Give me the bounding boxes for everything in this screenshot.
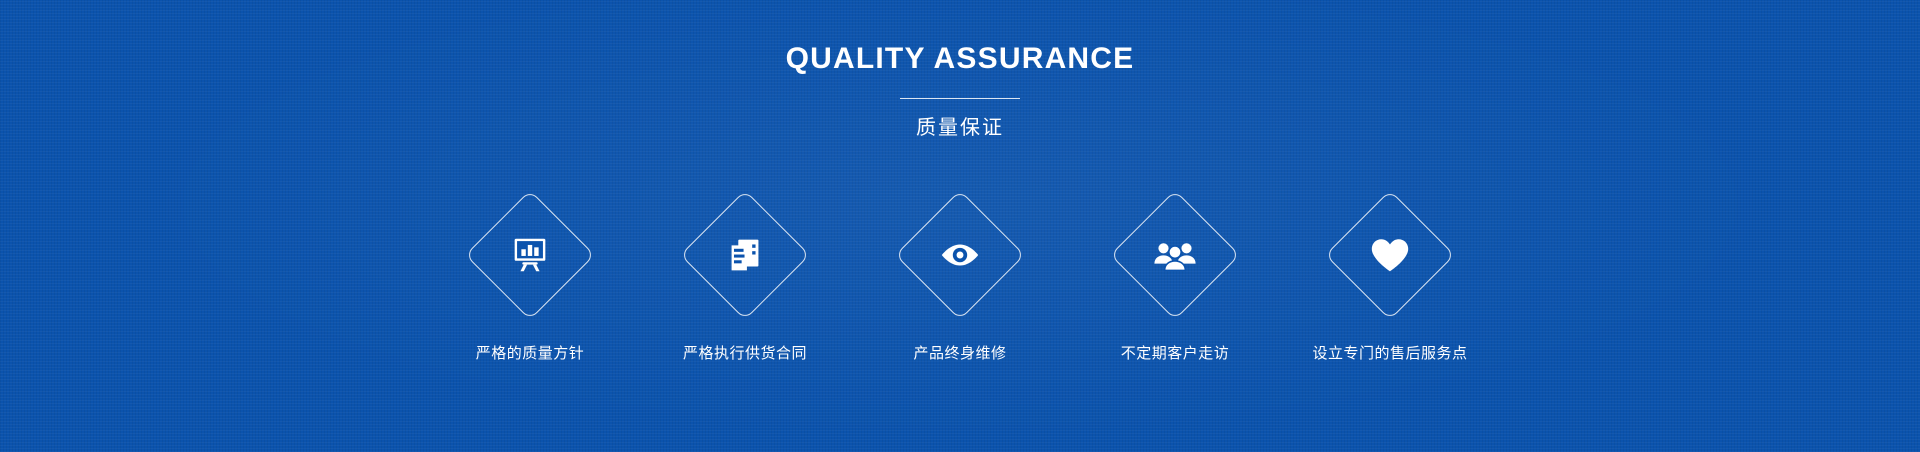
title-divider (900, 98, 1020, 99)
banner-heading: QUALITY ASSURANCE 质量保证 (0, 42, 1920, 140)
diamond-frame-2 (680, 190, 810, 320)
diamond-frame-4 (1110, 190, 1240, 320)
feature-item-customer-visits[interactable]: 不定期客户走访 (1088, 190, 1263, 364)
eye-icon (937, 232, 983, 278)
quality-assurance-banner: QUALITY ASSURANCE 质量保证 (0, 0, 1920, 452)
documents-contract-icon (722, 232, 768, 278)
feature-label: 设立专门的售后服务点 (1312, 344, 1467, 364)
page-title-en: QUALITY ASSURANCE (0, 42, 1920, 76)
feature-label: 严格的质量方针 (476, 344, 585, 364)
feature-item-quality-policy[interactable]: 严格的质量方针 (443, 190, 618, 364)
diamond-frame-1 (465, 190, 595, 320)
feature-item-after-sales[interactable]: 设立专门的售后服务点 (1303, 190, 1478, 364)
people-group-icon (1152, 232, 1198, 278)
feature-item-lifetime-repair[interactable]: 产品终身维修 (873, 190, 1048, 364)
feature-label: 不定期客户走访 (1121, 344, 1230, 364)
diamond-frame-3 (895, 190, 1025, 320)
feature-list: 严格的质量方针 严格执行供货合同 (0, 190, 1920, 364)
diamond-frame-5 (1325, 190, 1455, 320)
page-title-cn: 质量保证 (0, 116, 1920, 140)
feature-label: 严格执行供货合同 (683, 344, 807, 364)
feature-label: 产品终身维修 (913, 344, 1006, 364)
feature-item-supply-contract[interactable]: 严格执行供货合同 (658, 190, 833, 364)
presentation-chart-icon (507, 232, 553, 278)
heart-icon (1367, 232, 1413, 278)
